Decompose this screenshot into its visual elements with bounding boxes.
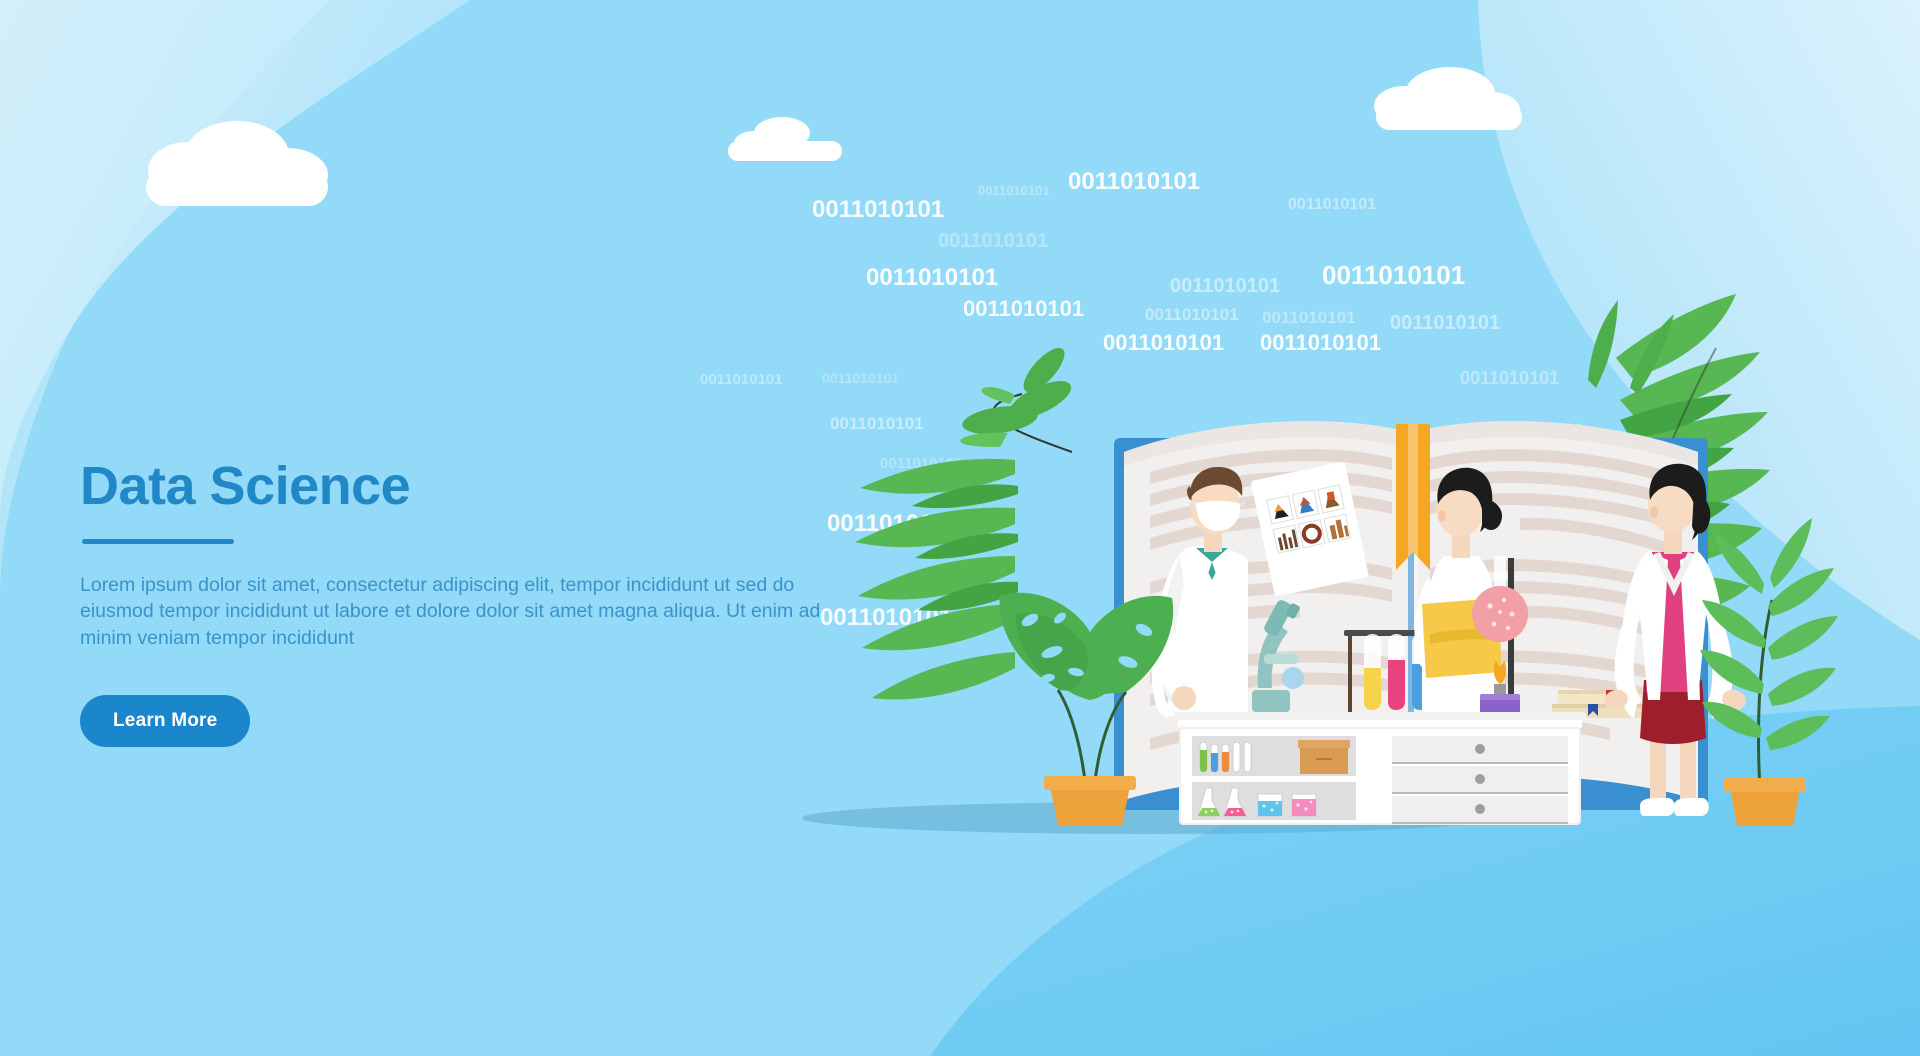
storage-box-icon [1298,740,1350,774]
page-title: Data Science [80,458,840,515]
hero-paragraph: Lorem ipsum dolor sit amet, consectetur … [80,572,825,652]
title-divider [82,539,234,544]
hero-stage: 0011010101001101010100110101010011010101… [0,0,1920,1056]
hero-copy-block: Data Science Lorem ipsum dolor sit amet,… [80,458,840,747]
drawer-knob-3 [1475,804,1485,814]
plant-pot-left [1044,776,1136,826]
fern-potted-right-icon [1700,518,1838,826]
lab-cabinet-icon [1180,728,1580,824]
cabinet-drawers [1392,736,1568,824]
learn-more-button[interactable]: Learn More [80,695,250,747]
drawer-knob-1 [1475,744,1485,754]
lab-table-icon [1174,712,1586,728]
drawer-knob-2 [1475,774,1485,784]
plant-pot-right [1724,778,1806,826]
